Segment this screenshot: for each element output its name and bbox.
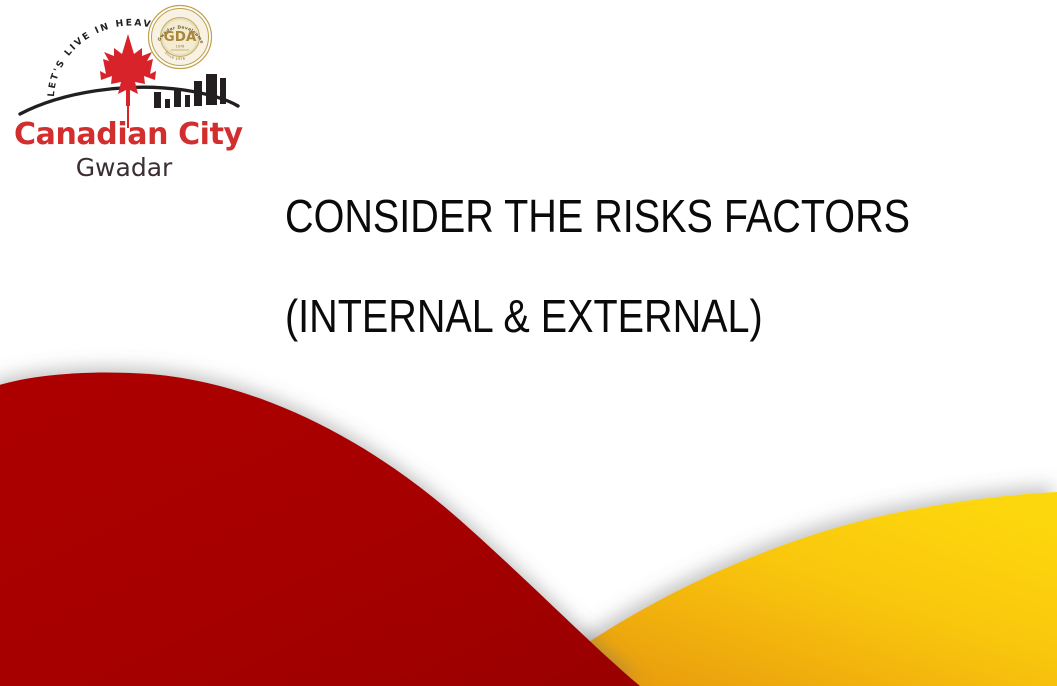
svg-text:GDA: GDA [164, 29, 197, 45]
brand-name: Canadian City [14, 118, 234, 152]
slide-title-line-1: CONSIDER THE RISKS FACTORS [285, 192, 887, 240]
gda-seal-badge: Gwadar Development Authority Since 1976 … [147, 4, 213, 70]
svg-text:1976: 1976 [176, 45, 185, 49]
company-logo: LET'S LIVE IN HEAVEN [14, 4, 244, 190]
presentation-slide: LET'S LIVE IN HEAVEN [0, 0, 1057, 686]
logo-wordmark: Canadian City Gwadar [14, 118, 234, 183]
slide-title-line-2: (INTERNAL & EXTERNAL) [285, 292, 887, 340]
yellow-curve-shape [528, 492, 1057, 686]
slide-title-block: CONSIDER THE RISKS FACTORS (INTERNAL & E… [285, 192, 985, 340]
red-curve-shape [0, 373, 640, 686]
brand-location: Gwadar [14, 153, 234, 183]
